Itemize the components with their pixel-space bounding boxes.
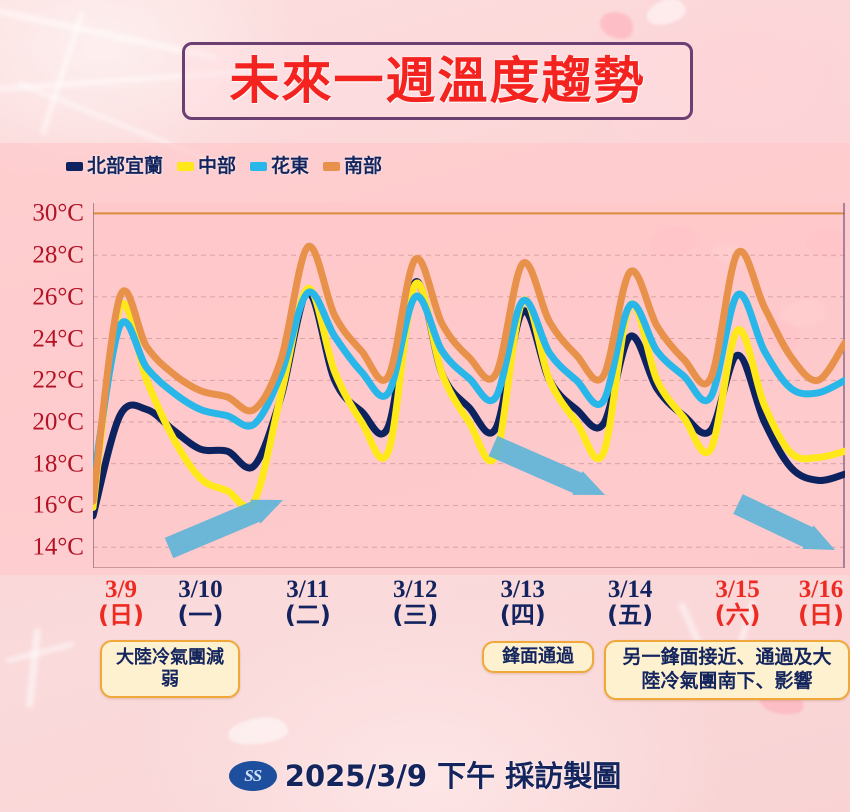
y-axis-tick: 30°C <box>32 201 84 226</box>
x-axis-tick-3-9: 3/9(日) <box>98 576 144 629</box>
temperature-trend-svg <box>93 203 845 568</box>
x-tick-date: 3/13 <box>500 576 546 603</box>
x-tick-weekday: (五) <box>607 603 653 629</box>
legend-swatch-north <box>66 162 83 171</box>
chart-legend: 北部宜蘭 中部 花東 南部 <box>66 157 382 176</box>
x-tick-weekday: (一) <box>177 603 223 629</box>
x-tick-date: 3/14 <box>607 576 653 603</box>
footer: SS 2025/3/9 下午 採訪製圖 <box>0 752 850 800</box>
x-axis-tick-3-14: 3/14(五) <box>607 576 653 629</box>
y-axis-tick: 16°C <box>32 493 84 518</box>
y-axis-tick: 24°C <box>32 326 84 351</box>
legend-swatch-south <box>323 162 340 171</box>
x-axis-tick-3-12: 3/12(三) <box>392 576 438 629</box>
x-axis: 3/9(日)3/10(一)3/11(二)3/12(三)3/13(四)3/14(五… <box>0 576 850 634</box>
legend-label-central: 中部 <box>198 157 236 176</box>
legend-item-central: 中部 <box>177 157 236 176</box>
legend-swatch-east <box>250 162 267 171</box>
annotation-cold-air-mass-weakening: 大陸冷氣團減弱 <box>100 640 240 698</box>
annotation-another-front-approach: 另一鋒面接近、通過及大陸冷氣團南下、影響 <box>604 640 850 700</box>
legend-item-north: 北部宜蘭 <box>66 157 163 176</box>
y-axis-tick: 22°C <box>32 368 84 393</box>
legend-swatch-central <box>177 162 194 171</box>
y-axis-tick: 18°C <box>32 451 84 476</box>
legend-label-south: 南部 <box>344 157 382 176</box>
legend-item-east: 花東 <box>250 157 309 176</box>
footer-credit: 2025/3/9 下午 採訪製圖 <box>285 762 621 791</box>
y-axis: 30°C28°C26°C24°C22°C20°C18°C16°C14°C <box>0 188 92 568</box>
x-tick-weekday: (日) <box>798 603 844 629</box>
x-tick-weekday: (日) <box>98 603 144 629</box>
x-tick-date: 3/15 <box>715 576 761 603</box>
x-tick-weekday: (二) <box>285 603 331 629</box>
page-title-text: 未來一週溫度趨勢 <box>230 56 646 106</box>
x-axis-tick-3-13: 3/13(四) <box>500 576 546 629</box>
legend-label-north: 北部宜蘭 <box>87 157 163 176</box>
x-tick-weekday: (四) <box>500 603 546 629</box>
legend-label-east: 花東 <box>271 157 309 176</box>
chart-plot-area <box>93 203 845 568</box>
x-tick-date: 3/10 <box>177 576 223 603</box>
page-title: 未來一週溫度趨勢 <box>182 42 693 120</box>
x-tick-weekday: (六) <box>715 603 761 629</box>
annotation-front-passing: 鋒面通過 <box>482 641 594 673</box>
x-axis-tick-3-10: 3/10(一) <box>177 576 223 629</box>
x-tick-date: 3/9 <box>98 576 144 603</box>
x-tick-date: 3/16 <box>798 576 844 603</box>
y-axis-tick: 14°C <box>32 535 84 560</box>
y-axis-tick: 28°C <box>32 243 84 268</box>
broadcaster-logo-icon: SS <box>229 761 277 791</box>
y-axis-tick: 26°C <box>32 284 84 309</box>
x-axis-tick-3-11: 3/11(二) <box>285 576 331 629</box>
x-axis-tick-3-16: 3/16(日) <box>798 576 844 629</box>
x-axis-tick-3-15: 3/15(六) <box>715 576 761 629</box>
x-tick-date: 3/12 <box>392 576 438 603</box>
y-axis-tick: 20°C <box>32 410 84 435</box>
legend-item-south: 南部 <box>323 157 382 176</box>
x-tick-date: 3/11 <box>285 576 331 603</box>
x-tick-weekday: (三) <box>392 603 438 629</box>
